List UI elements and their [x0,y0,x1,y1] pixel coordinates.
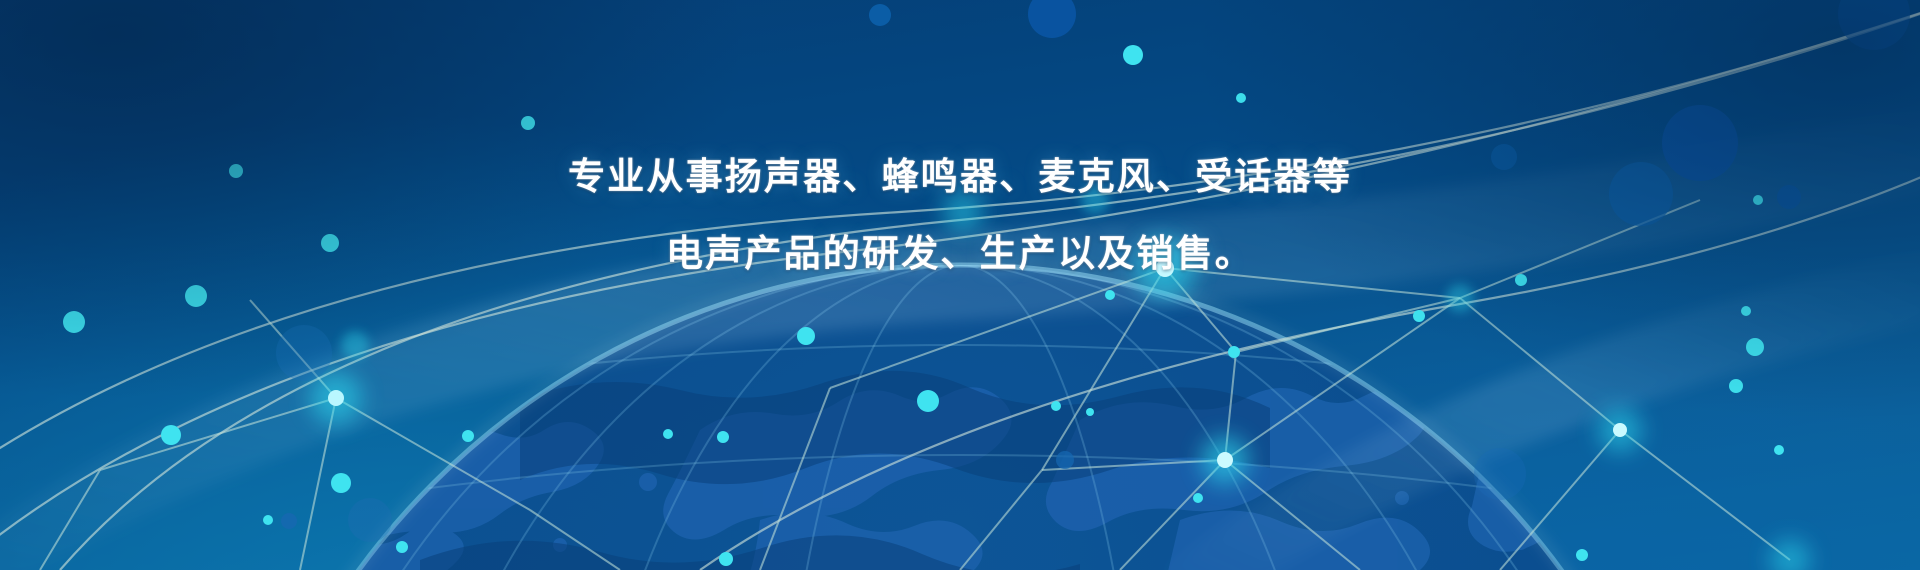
headline-block: 专业从事扬声器、蜂鸣器、麦克风、受话器等 电声产品的研发、生产以及销售。 [0,158,1920,272]
headline-line-2: 电声产品的研发、生产以及销售。 [0,235,1920,272]
hero-banner: 专业从事扬声器、蜂鸣器、麦克风、受话器等 电声产品的研发、生产以及销售。 [0,0,1920,570]
headline-line-1: 专业从事扬声器、蜂鸣器、麦克风、受话器等 [0,158,1920,195]
glowing-nodes [0,0,1920,570]
node-dot [63,45,1784,566]
